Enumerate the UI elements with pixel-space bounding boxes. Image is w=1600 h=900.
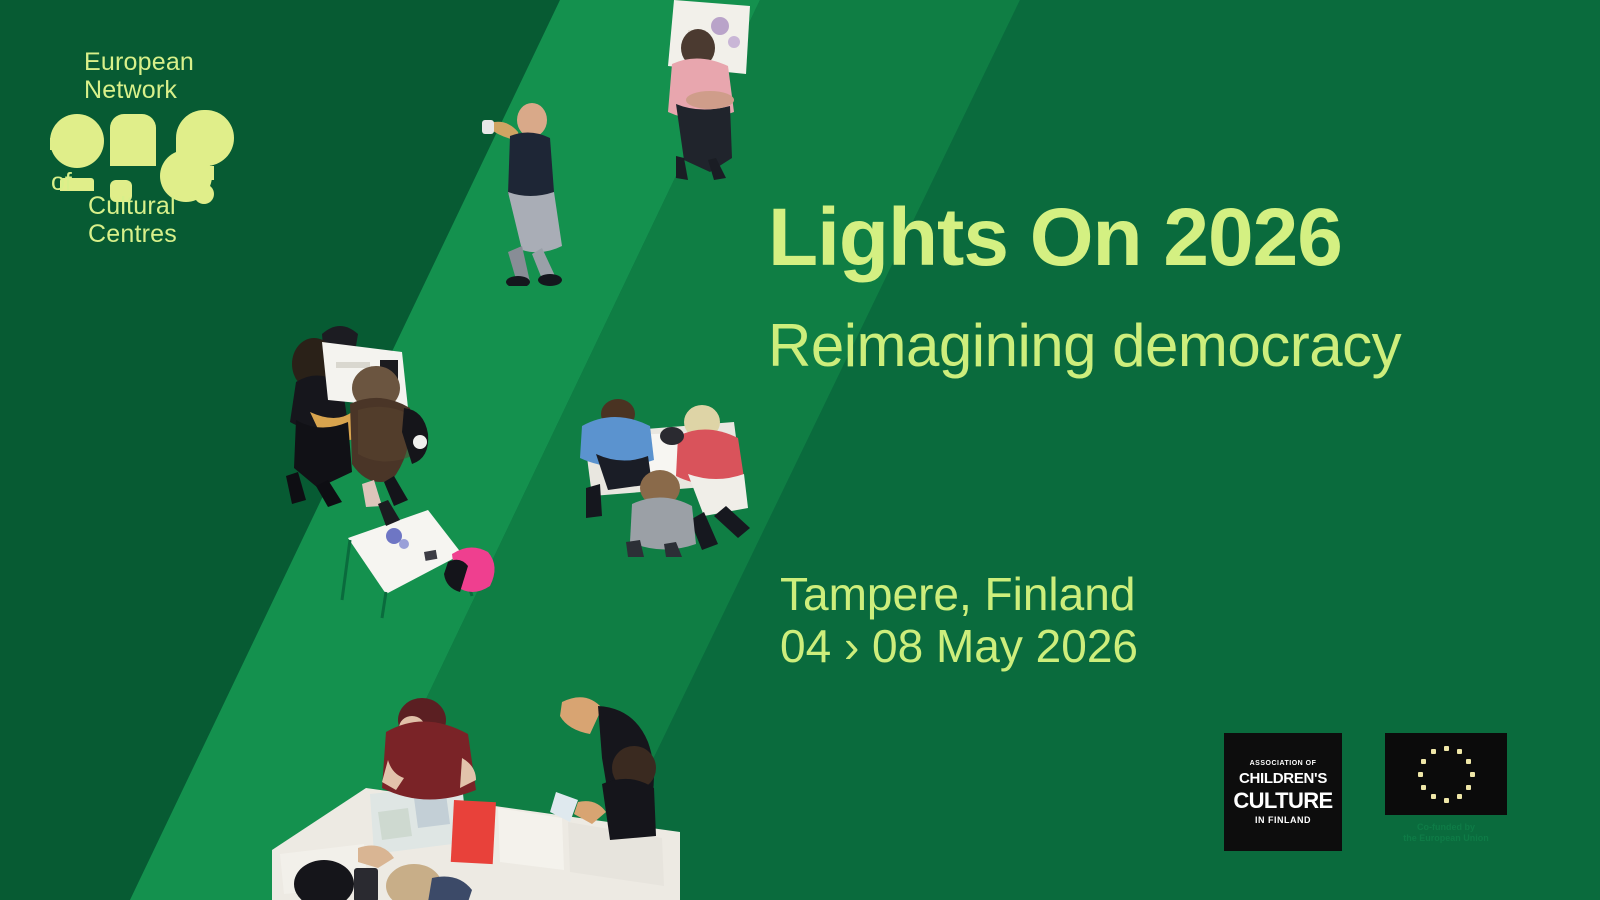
eu-star-icon [1421, 785, 1426, 790]
logo-line-european: European [84, 50, 194, 75]
logo-line-network: Network [84, 78, 177, 103]
eu-caption-line-2: the European Union [1385, 833, 1507, 844]
eu-star-icon [1457, 749, 1462, 754]
logo-line-centres: Centres [88, 222, 177, 247]
eu-star-icon [1431, 749, 1436, 754]
photo-long-workshop-table [262, 672, 682, 900]
logo-line-of: of [51, 168, 72, 197]
photo-group-around-table [566, 392, 766, 557]
photo-pair-at-flipchart [262, 312, 452, 507]
eu-star-icon [1421, 759, 1426, 764]
eu-star-icon [1466, 785, 1471, 790]
acc-logo-line-1: ASSOCIATION OF [1250, 760, 1317, 768]
event-location: Tampere, Finland [780, 566, 1135, 622]
eu-star-icon [1431, 794, 1436, 799]
eu-star-icon [1457, 794, 1462, 799]
acc-logo-line-2: CHILDREN'S [1239, 770, 1327, 787]
eu-star-icon [1470, 772, 1475, 777]
event-dates: 04 › 08 May 2026 [780, 618, 1138, 674]
acc-logo-line-3: CULTURE [1233, 789, 1332, 813]
eu-caption-line-1: Co-funded by [1385, 822, 1507, 833]
acc-logo-line-4: IN FINLAND [1255, 815, 1311, 825]
event-title: Lights On 2026 [768, 190, 1342, 286]
partner-logo-childrens-culture-finland[interactable]: ASSOCIATION OF CHILDREN'S CULTURE IN FIN… [1224, 733, 1342, 851]
partner-logo-eu-cofunded[interactable]: Co-funded by the European Union [1385, 733, 1507, 851]
eu-flag-icon [1385, 733, 1507, 815]
photo-easel-with-paper [332, 500, 512, 620]
logo-line-cultural: Cultural [88, 194, 176, 219]
eu-caption: Co-funded by the European Union [1385, 822, 1507, 844]
eu-star-icon [1444, 746, 1449, 751]
eu-star-icon [1466, 759, 1471, 764]
event-subtitle: Reimagining democracy [768, 310, 1401, 382]
encc-logo[interactable]: European Network of Cultural Centres [48, 46, 238, 271]
photo-person-pink-top-table [650, 0, 755, 180]
eu-star-icon [1418, 772, 1423, 777]
eu-star-icon [1444, 798, 1449, 803]
event-poster: European Network of Cultural Centres Lig… [0, 0, 1600, 900]
photo-trumpet-player [478, 96, 578, 286]
